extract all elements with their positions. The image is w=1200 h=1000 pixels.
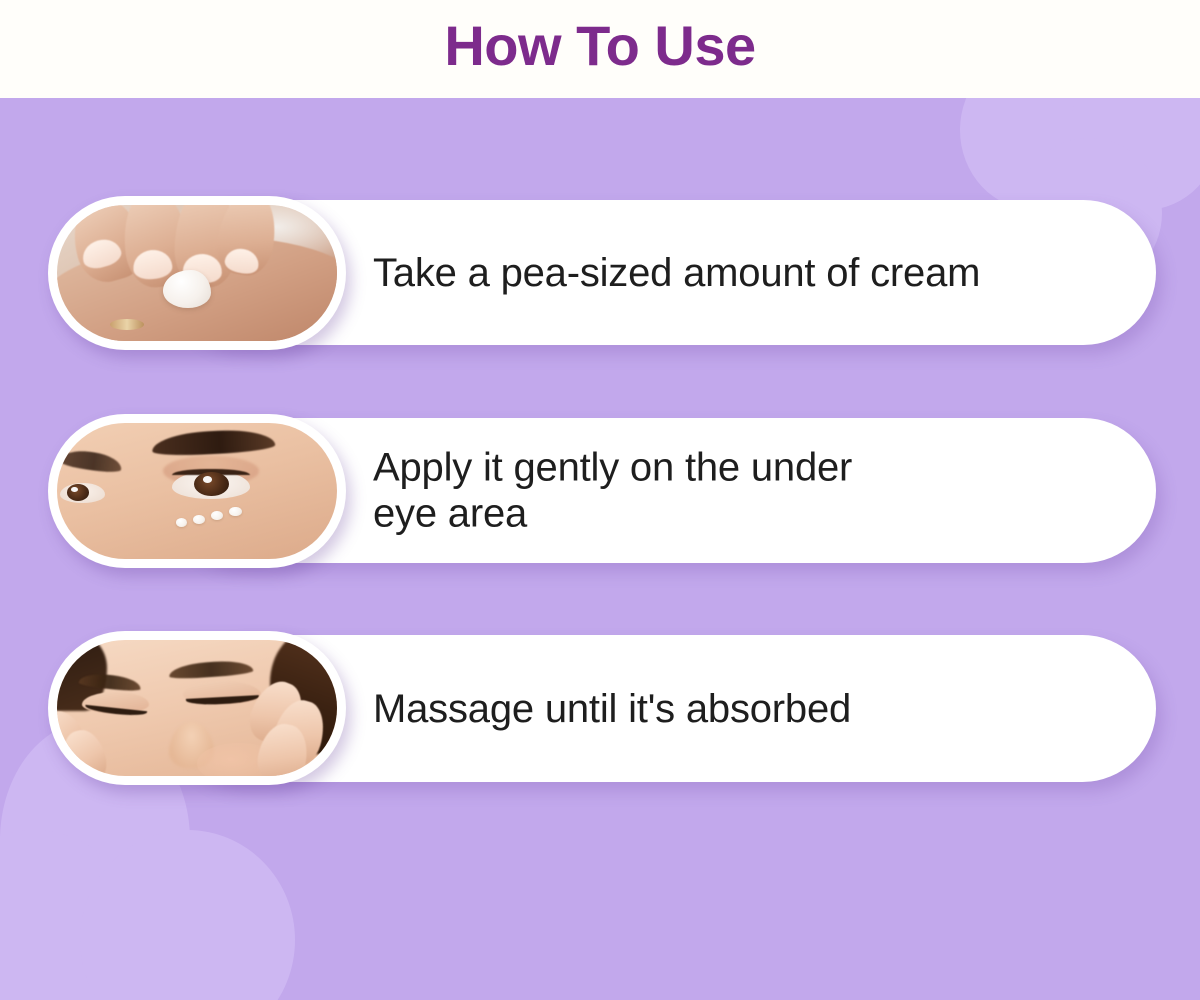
eyebrow-shape: [169, 659, 254, 680]
cream-dollop-shape: [163, 270, 211, 308]
cream-dot-shape: [176, 518, 187, 527]
thumbnail-image: [57, 423, 337, 559]
page-title: How To Use: [444, 18, 755, 80]
thumbnail-image: [57, 205, 337, 341]
massage-illustration: [57, 640, 337, 776]
ring-shape: [110, 319, 144, 330]
header-band: How To Use: [0, 0, 1200, 98]
step-row: Take a pea-sized amount of cream: [0, 200, 1200, 345]
eye-glint-shape: [203, 476, 213, 483]
hand-cream-illustration: [57, 205, 337, 341]
step-thumbnail-massaging-under-eye-area: [48, 631, 346, 785]
step-label: Apply it gently on the under eye area: [373, 444, 1126, 537]
step-row: Apply it gently on the under eye area: [0, 418, 1200, 563]
step-thumbnail-hand-with-cream-dollop: [48, 196, 346, 350]
step-row: Massage until it's absorbed: [0, 635, 1200, 782]
content-stage: Take a pea-sized amount of cream: [0, 98, 1200, 1000]
step-label: Take a pea-sized amount of cream: [373, 249, 1126, 295]
cream-dot-shape: [193, 515, 205, 525]
eyebrow-shape: [152, 428, 276, 458]
cream-dot-shape: [229, 507, 241, 517]
step-label: Massage until it's absorbed: [373, 685, 1126, 731]
under-eye-dots-illustration: [57, 423, 337, 559]
eyebrow-shape: [59, 447, 122, 473]
steps-list: Take a pea-sized amount of cream: [0, 98, 1200, 1000]
how-to-use-infographic: How To Use Take a pea-sized amount of cr…: [0, 0, 1200, 1000]
cream-dot-shape: [211, 511, 223, 521]
thumbnail-image: [57, 640, 337, 776]
step-thumbnail-under-eye-cream-dots: [48, 414, 346, 568]
